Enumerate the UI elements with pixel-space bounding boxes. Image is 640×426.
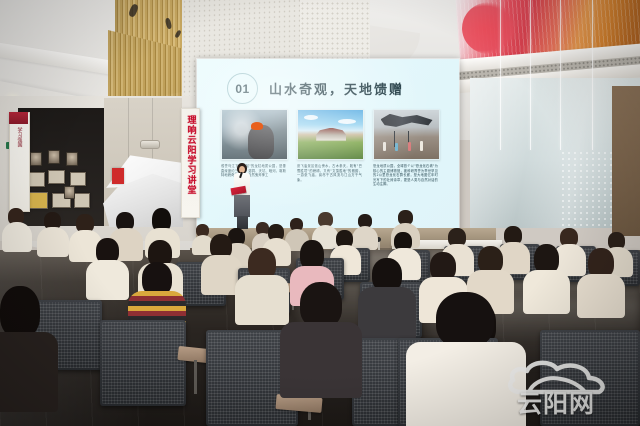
attendee-body	[577, 274, 625, 318]
visitor-figure	[395, 143, 398, 151]
lecture-hall-photo: 学习强国 01 山水奇观，天地馈赠 戒誉乌江下第一起"的龙缸地质公园，是垂直深度…	[0, 0, 640, 426]
stage-banner-text: 理响云阳学习讲堂	[186, 115, 196, 195]
slide-card-text: 恐龙地质公园，全球首个以"恐龙化石墙"为核心的主题博物馆，被科研界誉为举世罕见的…	[373, 164, 438, 187]
presenter	[228, 163, 256, 229]
presenter-skirt	[234, 195, 250, 217]
presenter-legs	[237, 216, 248, 229]
left-banner-header	[9, 112, 28, 124]
attendee-body	[37, 227, 69, 257]
wooden-door	[612, 86, 640, 236]
attendee-dark-top	[358, 287, 416, 341]
left-vertical-banner: 学习强国	[9, 112, 30, 212]
slide-header: 01 山水奇观，天地馈赠	[227, 73, 404, 104]
exhibit-portrait	[64, 186, 75, 199]
visitor-figure	[408, 142, 411, 151]
attendee-head	[436, 292, 494, 348]
cave-explorer-photo	[221, 109, 288, 160]
exhibit-portrait	[66, 152, 78, 166]
zhangfei-temple-photo	[297, 109, 364, 160]
chair-mesh	[102, 322, 184, 404]
exhibit-portrait	[30, 152, 42, 166]
stage-vertical-banner: 理响云阳学习讲堂	[181, 108, 200, 218]
cloud-icon	[338, 119, 356, 124]
watermark: 云阳网	[503, 358, 631, 418]
slide-section-number: 01	[227, 73, 258, 104]
left-banner-text: 学习强国	[17, 127, 23, 147]
attendee-body	[86, 260, 129, 300]
cloud-icon	[304, 115, 318, 120]
dinosaur-fossil-photo	[373, 109, 440, 160]
chair	[100, 320, 186, 406]
slide-title: 山水奇观，天地馈赠	[269, 79, 404, 98]
attendee-body	[352, 226, 378, 250]
tablet-arm-post	[194, 360, 197, 394]
exhibit-frame	[48, 170, 65, 184]
attendee-long-hair	[0, 286, 40, 338]
visitor-figure	[383, 142, 386, 151]
slide-card-text: 张飞庙景区依山傍水，古木参天，既有"巴蜀胜境"的磅礴，又有"文藻胜地"的雅韵，一…	[297, 164, 362, 182]
attendee-dark-top	[280, 322, 362, 398]
attendee-body	[523, 270, 570, 314]
exhibit-frame	[70, 172, 86, 186]
exhibit-frame	[74, 193, 90, 208]
exhibit-portrait	[48, 150, 60, 164]
attendee-body	[235, 275, 289, 325]
visitor-figure	[420, 141, 423, 151]
attendee-body	[0, 332, 58, 412]
piano-red-marker	[112, 168, 124, 184]
slide-card: 恐龙地质公园，全球首个以"恐龙化石墙"为核心的主题博物馆，被科研界誉为举世罕见的…	[373, 109, 438, 187]
watermark-text: 云阳网	[517, 384, 595, 420]
wall-plaque	[140, 140, 160, 149]
slide-card: 张飞庙景区依山傍水，古木参天，既有"巴蜀胜境"的磅礴，又有"文藻胜地"的雅韵，一…	[297, 109, 362, 187]
attendee-body	[2, 222, 32, 252]
